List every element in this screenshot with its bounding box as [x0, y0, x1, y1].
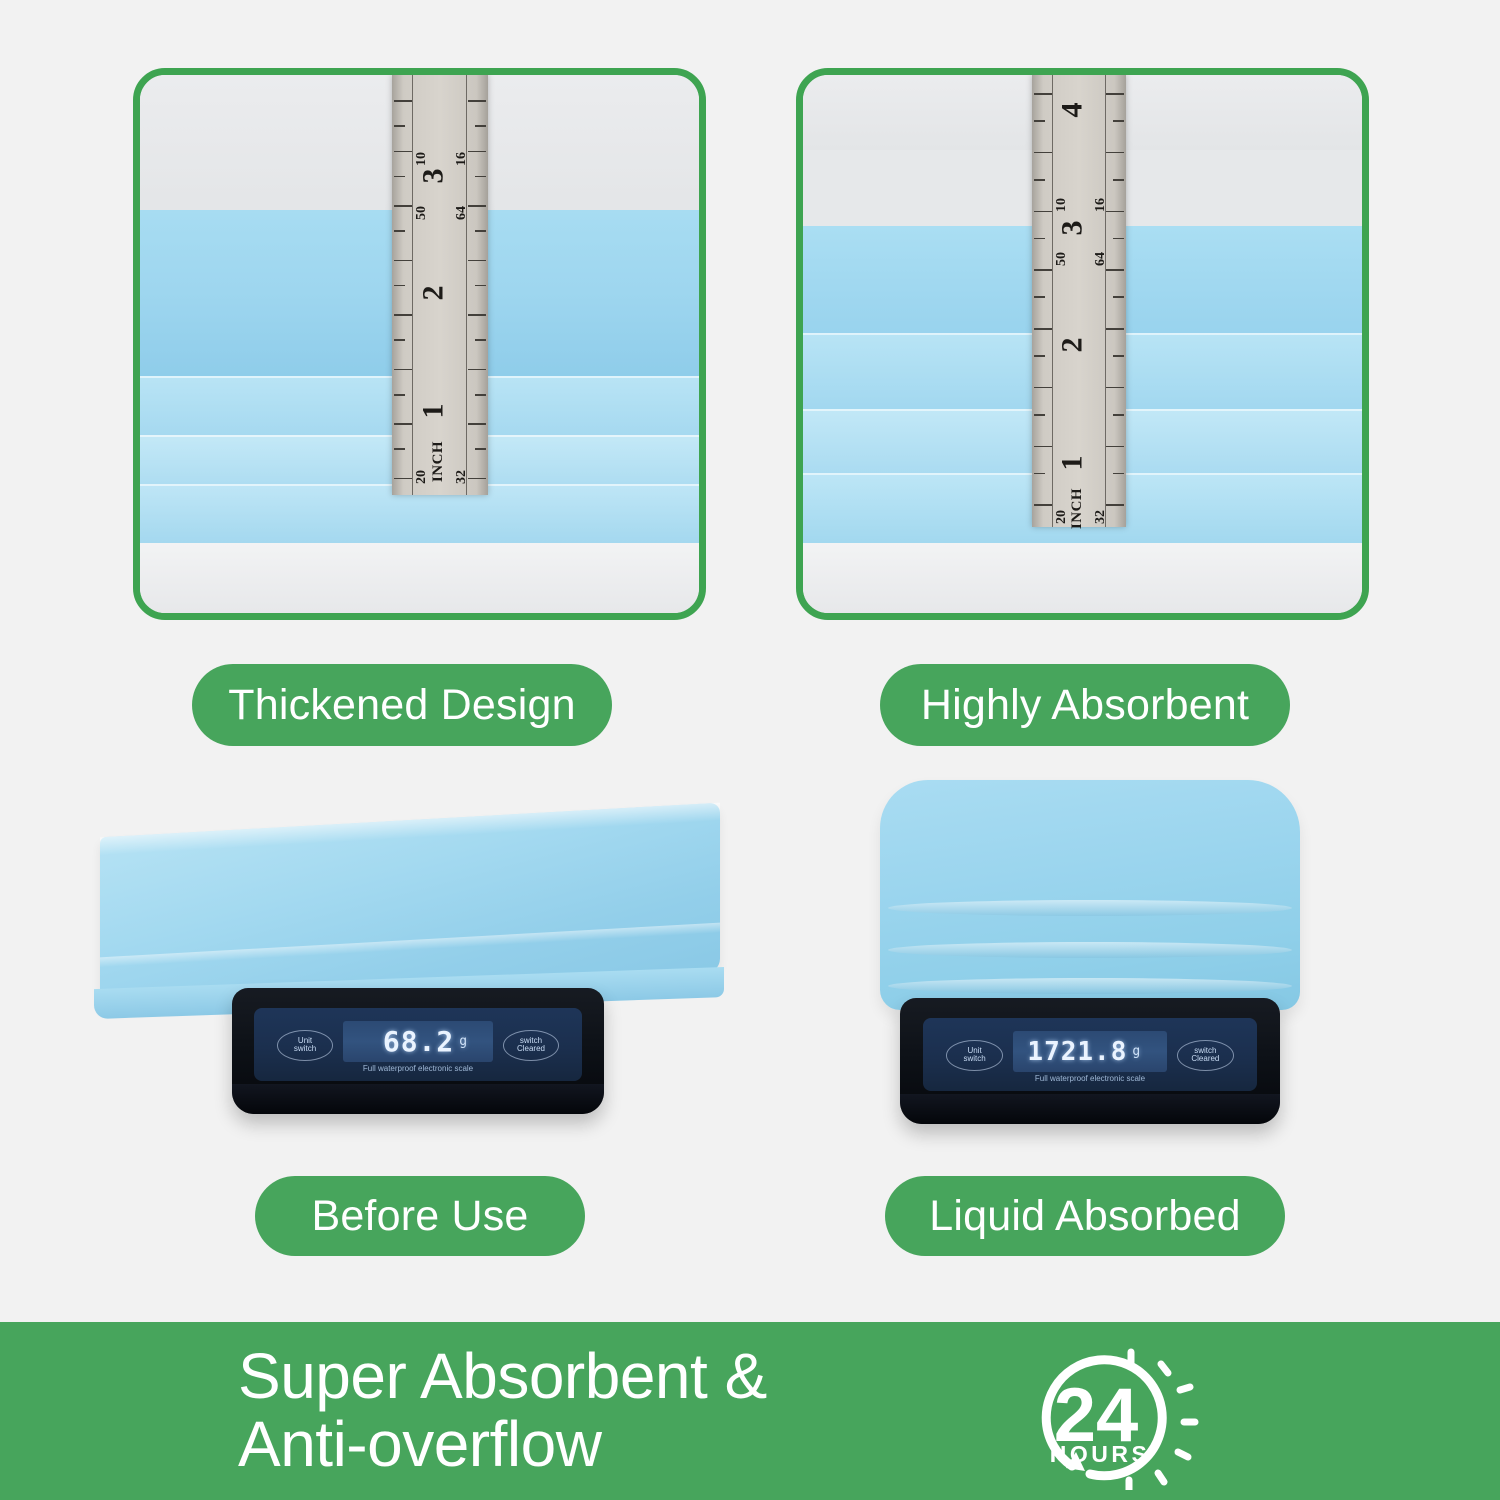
- ruler-scale-50: 50: [1054, 252, 1070, 266]
- label-liquid-absorbed: Liquid Absorbed: [885, 1176, 1285, 1256]
- ruler-scale-10: 10: [1054, 198, 1070, 212]
- ruler-inch-2: 2: [1056, 338, 1090, 353]
- unit-switch-button[interactable]: Unit switch: [946, 1040, 1003, 1071]
- ruler-scale-10: 10: [414, 152, 430, 166]
- ruler-unit-label: INCH: [1069, 488, 1086, 529]
- scale-base: [900, 1094, 1280, 1124]
- ruler-inch-4: 4: [1056, 103, 1090, 118]
- clock-icon: 24 HOURS: [1030, 1340, 1200, 1490]
- steel-ruler: 4 3 2 1 INCH 10 16 50 64 20 32: [1032, 75, 1126, 527]
- clock-badge-word: HOURS: [1050, 1441, 1151, 1467]
- scale-weight-unit: g: [1132, 1044, 1140, 1059]
- button-line-2: Cleared: [517, 1045, 545, 1053]
- scale-base: [232, 1084, 604, 1114]
- photo-frame-highly-absorbent: 4 3 2 1 INCH 10 16 50 64 20 32: [796, 68, 1369, 620]
- button-line-2: Cleared: [1191, 1055, 1219, 1063]
- ruler-inch-3: 3: [1056, 220, 1090, 235]
- scale-faceplate: Unit switch 1721.8 g switch Cleared Full…: [923, 1018, 1257, 1091]
- ruler-inch-3: 3: [416, 168, 450, 183]
- scale-lcd-display: 68.2 g: [343, 1021, 494, 1062]
- ruler-inch-1: 1: [1056, 455, 1090, 470]
- ruler-scale-64: 64: [454, 206, 470, 220]
- label-highly-absorbent: Highly Absorbent: [880, 664, 1290, 746]
- label-text: Before Use: [311, 1192, 528, 1241]
- switch-cleared-button[interactable]: switch Cleared: [503, 1030, 559, 1061]
- scale-faceplate: Unit switch 68.2 g switch Cleared Full w…: [254, 1008, 581, 1081]
- ruler-scale-32: 32: [1093, 510, 1109, 524]
- scale-brand-caption: Full waterproof electronic scale: [254, 1064, 581, 1073]
- digital-scale: Unit switch 1721.8 g switch Cleared Full…: [900, 998, 1280, 1124]
- scale-weight-unit: g: [459, 1034, 467, 1049]
- ruler-inch-1: 1: [416, 403, 450, 418]
- dry-underpad: [100, 803, 720, 1008]
- ruler-scale-64: 64: [1093, 252, 1109, 266]
- switch-cleared-button[interactable]: switch Cleared: [1177, 1040, 1234, 1071]
- banner-heading: Super Absorbent & Anti-overflow: [238, 1343, 767, 1479]
- ruler-unit-label: INCH: [430, 441, 447, 482]
- button-line-2: switch: [964, 1055, 986, 1063]
- ruler-scale-50: 50: [414, 206, 430, 220]
- photo-tabletop: [803, 543, 1362, 613]
- unit-switch-button[interactable]: Unit switch: [277, 1030, 333, 1061]
- saturated-underpad: [880, 780, 1300, 1010]
- label-text: Highly Absorbent: [921, 681, 1249, 730]
- scale-weight-value: 1721.8: [1027, 1037, 1127, 1067]
- ruler-scale-20: 20: [414, 470, 430, 484]
- steel-ruler: 3 2 1 INCH 10 16 50 64 20 32: [392, 75, 488, 495]
- label-before-use: Before Use: [255, 1176, 585, 1256]
- ruler-scale-16: 16: [454, 152, 470, 166]
- scale-weight-value: 68.2: [383, 1025, 454, 1058]
- ruler-inch-2: 2: [416, 286, 450, 301]
- photo-frame-thickened-design: 3 2 1 INCH 10 16 50 64 20 32: [133, 68, 706, 620]
- banner-heading-line-1: Super Absorbent &: [238, 1343, 767, 1411]
- scale-lcd-display: 1721.8 g: [1013, 1031, 1167, 1072]
- label-text: Liquid Absorbed: [929, 1192, 1240, 1241]
- bottom-banner: Super Absorbent & Anti-overflow: [0, 1322, 1500, 1500]
- ruler-scale-20: 20: [1054, 510, 1070, 524]
- photo-before-use: Unit switch 68.2 g switch Cleared Full w…: [60, 800, 760, 1160]
- photo-liquid-absorbed: Unit switch 1721.8 g switch Cleared Full…: [860, 770, 1320, 1140]
- photo-tabletop: [140, 543, 699, 613]
- digital-scale: Unit switch 68.2 g switch Cleared Full w…: [232, 988, 604, 1114]
- label-thickened-design: Thickened Design: [192, 664, 612, 746]
- scale-brand-caption: Full waterproof electronic scale: [923, 1074, 1257, 1083]
- button-line-2: switch: [294, 1045, 316, 1053]
- label-text: Thickened Design: [228, 681, 575, 730]
- banner-heading-line-2: Anti-overflow: [238, 1411, 767, 1479]
